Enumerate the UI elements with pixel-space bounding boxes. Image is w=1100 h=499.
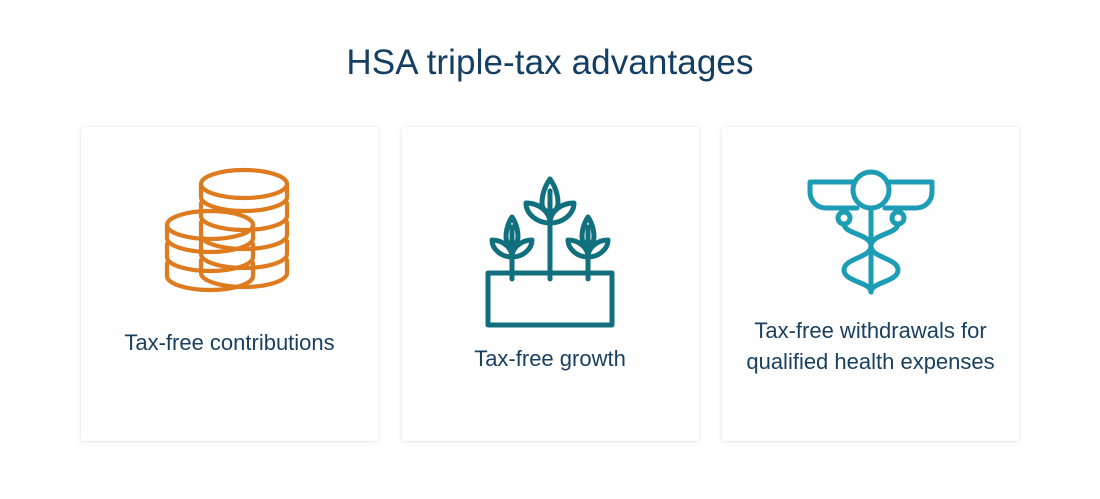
advantage-card-list: Tax-free contributions bbox=[81, 127, 1019, 441]
advantage-card-label: Tax-free withdrawals for qualified healt… bbox=[736, 315, 1005, 377]
advantage-card-growth[interactable]: Tax-free growth bbox=[402, 127, 699, 441]
growing-plants-icon bbox=[402, 159, 699, 309]
advantage-card-label: Tax-free contributions bbox=[95, 327, 364, 358]
infographic-page: HSA triple-tax advantages bbox=[0, 0, 1100, 499]
advantage-card-withdrawals[interactable]: Tax-free withdrawals for qualified healt… bbox=[722, 127, 1019, 441]
advantage-card-contributions[interactable]: Tax-free contributions bbox=[81, 127, 378, 441]
caduceus-icon bbox=[722, 159, 1019, 309]
advantage-card-label: Tax-free growth bbox=[416, 343, 685, 374]
page-title: HSA triple-tax advantages bbox=[0, 41, 1100, 85]
coin-stacks-icon bbox=[81, 159, 378, 309]
